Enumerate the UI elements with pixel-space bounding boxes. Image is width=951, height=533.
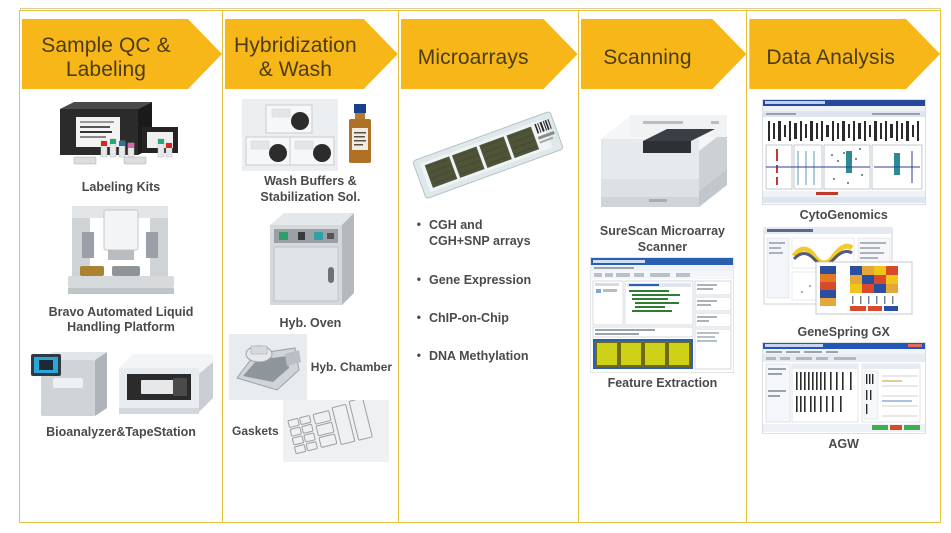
hyb-chamber-image <box>229 334 307 400</box>
stage-title: Scanning <box>579 19 717 97</box>
stage-title: Sample QC & Labeling <box>20 19 192 97</box>
stage-body: • CGH and CGH+SNP arrays • Gene Expressi… <box>399 97 578 522</box>
item-caption: Bravo Automated Liquid Handling Platform <box>49 305 194 336</box>
cytogenomics-screenshot <box>762 99 926 205</box>
list-item: • Gene Expression <box>417 272 574 288</box>
feature-extraction-screenshot <box>590 257 734 373</box>
item-hyb-oven: Hyb. Oven <box>227 207 394 334</box>
wash-buffer-boxes-image <box>242 99 338 171</box>
bioanalyzer-tapestation-image <box>23 338 219 422</box>
stage-banner-hybridization-wash: Hybridization & Wash <box>223 19 398 97</box>
item-caption: Hyb. Oven <box>279 316 341 332</box>
item-caption: Labeling Kits <box>82 180 160 196</box>
microarray-application-list: • CGH and CGH+SNP arrays • Gene Expressi… <box>403 211 574 386</box>
stage-banner-microarrays: Microarrays <box>399 19 578 97</box>
stage-banner-sample-qc-labeling: Sample QC & Labeling <box>20 19 222 97</box>
item-cytogenomics: CytoGenomics <box>751 99 936 226</box>
stage-title: Data Analysis <box>747 19 914 97</box>
item-caption: GeneSpring GX <box>797 325 889 341</box>
bravo-liquid-handler-image <box>46 198 196 302</box>
list-item: • ChIP-on-Chip <box>417 310 574 326</box>
item-labeling-kits: Labeling Kits <box>24 99 218 198</box>
stage-banner-scanning: Scanning <box>579 19 747 97</box>
item-caption: Feature Extraction <box>608 376 718 392</box>
genespring-gx-screenshot <box>762 226 926 322</box>
item-surescan-scanner: SureScan Microarray Scanner <box>583 99 743 257</box>
item-bioanalyzer-tapestation: Bioanalyzer&TapeStation <box>24 338 218 443</box>
surescan-scanner-image <box>587 99 737 221</box>
bullet-dot-icon: • <box>417 272 421 287</box>
stage-body: Labeling Kits Bravo Automated Liquid H <box>20 97 222 522</box>
item-hyb-chamber: Hyb. Chamber <box>227 334 394 400</box>
item-caption: SureScan Microarray Scanner <box>600 224 725 255</box>
stage-microarrays: Microarrays <box>398 10 579 523</box>
bullet-label: DNA Methylation <box>429 348 529 364</box>
bullet-label: ChIP-on-Chip <box>429 310 509 326</box>
stage-title: Microarrays <box>399 19 548 97</box>
microarray-workflow-diagram: Sample QC & Labeling <box>0 0 951 533</box>
item-caption: Gaskets <box>232 424 279 439</box>
bullet-label: Gene Expression <box>429 272 531 288</box>
stage-sample-qc-labeling: Sample QC & Labeling <box>19 10 223 523</box>
stage-title: Hybridization & Wash <box>223 19 368 97</box>
item-feature-extraction: Feature Extraction <box>583 257 743 394</box>
item-caption: Hyb. Chamber <box>311 360 392 375</box>
labeling-kit-box-image <box>46 99 196 177</box>
bullet-dot-icon: • <box>417 217 421 232</box>
item-caption: Bioanalyzer&TapeStation <box>46 425 196 441</box>
stage-body: SureScan Microarray Scanner <box>579 97 747 522</box>
list-item: • DNA Methylation <box>417 348 574 364</box>
list-item: • CGH and CGH+SNP arrays <box>417 217 574 250</box>
item-agw: AGW <box>751 342 936 455</box>
bullet-dot-icon: • <box>417 348 421 363</box>
stage-body: CytoGenomics <box>747 97 940 522</box>
item-bravo-platform: Bravo Automated Liquid Handling Platform <box>24 198 218 338</box>
item-gaskets: Gaskets <box>227 400 394 462</box>
microarray-slide-image <box>405 99 571 211</box>
item-genespring-gx: GeneSpring GX <box>751 226 936 343</box>
item-microarray-slide <box>403 99 574 211</box>
stage-data-analysis: Data Analysis <box>746 10 941 523</box>
stage-scanning: Scanning SureScan Microa <box>578 10 748 523</box>
bullet-label: CGH and CGH+SNP arrays <box>429 217 531 250</box>
hyb-oven-image <box>254 207 366 313</box>
item-wash-buffers <box>227 99 394 171</box>
stabilization-solution-bottle-image <box>342 102 378 168</box>
stage-hybridization-wash: Hybridization & Wash <box>222 10 399 523</box>
agw-screenshot <box>762 342 926 434</box>
stage-body: Wash Buffers & Stabilization Sol. Hyb. O… <box>223 97 398 522</box>
item-caption: CytoGenomics <box>800 208 888 224</box>
bullet-dot-icon: • <box>417 310 421 325</box>
stage-banner-data-analysis: Data Analysis <box>747 19 940 97</box>
gasket-slides-image <box>283 400 389 462</box>
item-caption: Wash Buffers & Stabilization Sol. <box>260 174 360 205</box>
item-caption: AGW <box>828 437 859 453</box>
